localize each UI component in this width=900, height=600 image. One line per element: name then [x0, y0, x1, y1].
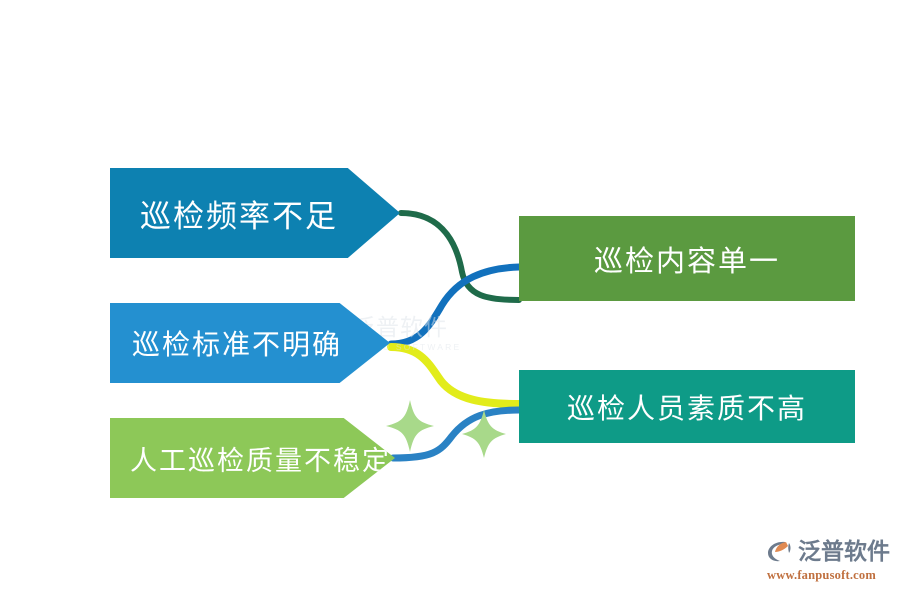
node-manual-label: 人工巡检质量不稳定 [130, 439, 391, 478]
diagram-canvas: 泛普软件 FANPU SOFTWARE 巡检频率不足 巡检标准不明确 人工巡检质… [0, 0, 900, 600]
sparkle-left-icon [386, 400, 434, 452]
node-content[interactable]: 巡检内容单一 [519, 216, 855, 301]
node-personnel-label: 巡检人员素质不高 [567, 387, 807, 427]
node-standard-label: 巡检标准不明确 [132, 323, 342, 363]
node-personnel[interactable]: 巡检人员素质不高 [519, 370, 855, 443]
fanpu-logo-mark-icon [766, 538, 794, 564]
connector-standard-to-content [391, 267, 519, 344]
node-manual[interactable]: 人工巡检质量不稳定 [110, 418, 395, 498]
brand-name: 泛普软件 [798, 540, 890, 563]
brand-logo[interactable]: 泛普软件 www.fanpusoft.com [766, 536, 892, 588]
node-content-label: 巡检内容单一 [594, 238, 780, 280]
node-frequency-label: 巡检频率不足 [140, 191, 338, 236]
node-frequency[interactable]: 巡检频率不足 [110, 168, 400, 258]
brand-logo-row: 泛普软件 [766, 536, 890, 566]
connector-standard-to-personnel [391, 347, 519, 404]
brand-url: www.fanpusoft.com [767, 568, 876, 583]
node-standard[interactable]: 巡检标准不明确 [110, 303, 390, 383]
